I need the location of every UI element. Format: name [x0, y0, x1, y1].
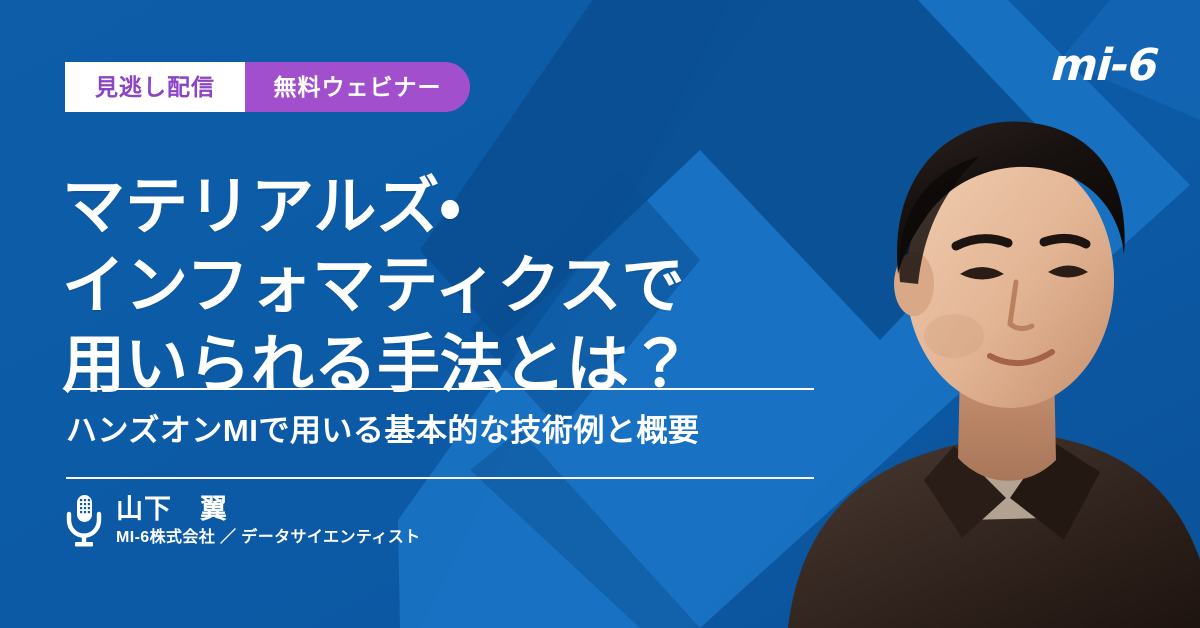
speaker-block: 山下 翼 MI-6株式会社 ／ データサイエンティスト [64, 494, 421, 548]
speaker-portrait-illustration [770, 68, 1200, 628]
divider-below-subtitle [66, 477, 814, 479]
webinar-banner: mi-6 見逃し配信 無料ウェビナー マテリアルズ・ インフォマティクスで 用い… [0, 0, 1200, 628]
title-line-2: インフォマティクスで [62, 247, 692, 326]
microphone-icon [64, 494, 104, 548]
badge-group: 見逃し配信 無料ウェビナー [65, 62, 470, 112]
subtitle: ハンズオンMIで用いる基本的な技術例と概要 [66, 412, 699, 449]
page-title: マテリアルズ・ インフォマティクスで 用いられる手法とは？ [62, 168, 692, 404]
title-line-1: マテリアルズ・ [62, 168, 692, 247]
mi-6-logo[interactable]: mi-6 [1051, 44, 1160, 88]
badge-replay: 見逃し配信 [65, 62, 245, 112]
speaker-photo [770, 0, 1200, 628]
lower-v-shape [470, 430, 700, 628]
cheek-shade-shape [924, 314, 984, 358]
speaker-text: 山下 翼 MI-6株式会社 ／ データサイエンティスト [116, 494, 421, 547]
speaker-name: 山下 翼 [116, 494, 421, 524]
speaker-role: MI-6株式会社 ／ データサイエンティスト [116, 528, 421, 548]
badge-free-webinar: 無料ウェビナー [245, 62, 470, 112]
title-line-3: 用いられる手法とは？ [62, 326, 692, 405]
divider-above-subtitle [66, 388, 814, 390]
